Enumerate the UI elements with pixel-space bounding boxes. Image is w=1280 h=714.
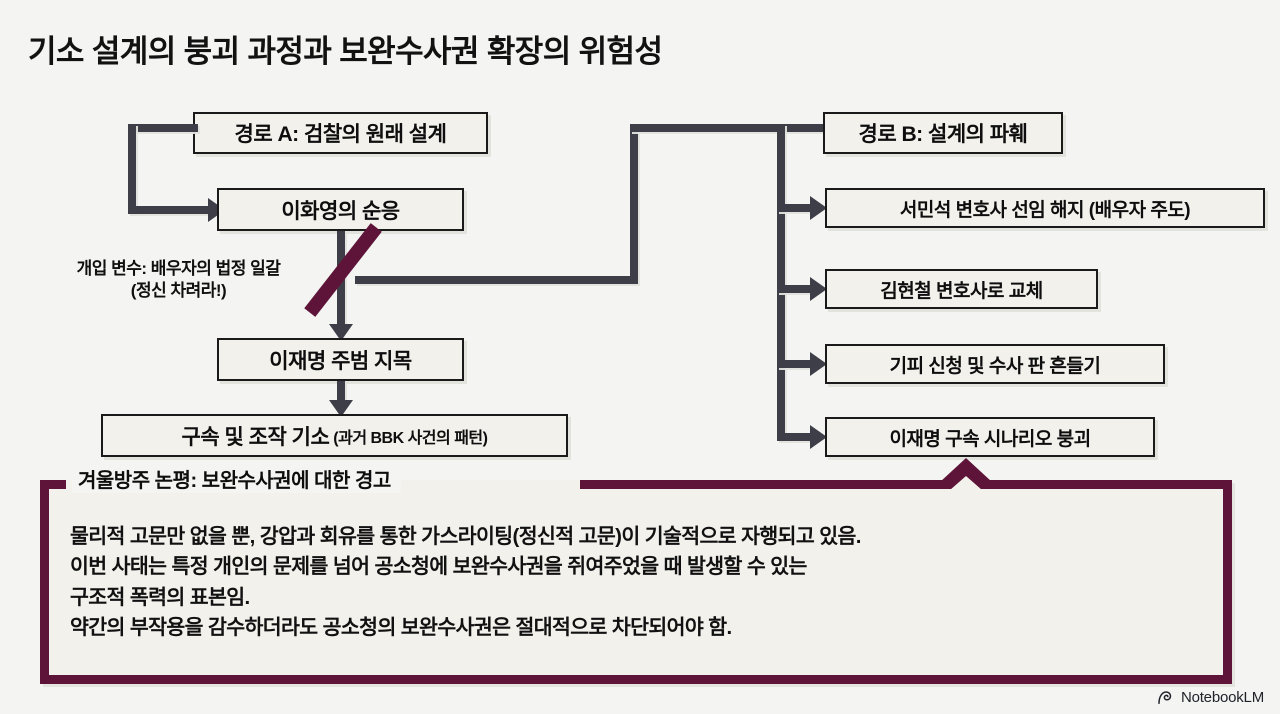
commentary-rail-left [40,480,49,684]
commentary-pointer-chevron-notch [950,476,982,490]
commentary-rail-right [1223,480,1232,684]
node-label: 김현철 변호사로 교체 [880,276,1042,303]
page-title: 기소 설계의 붕괴 과정과 보완수사권 확장의 위험성 [28,26,662,71]
node-label: 기피 신청 및 수사 판 흔들기 [890,351,1101,378]
notebooklm-label: NotebookLM [1181,689,1264,706]
notebooklm-watermark: NotebookLM [1157,689,1264,706]
node-counsel-replacement: 김현철 변호사로 교체 [825,269,1098,309]
bridge-top-run-to-path-b [630,124,825,132]
node-label: 서민석 변호사 선임 해지 (배우자 주도) [900,195,1190,222]
node-scenario-collapse: 이재명 구속 시나리오 붕괴 [825,417,1155,457]
node-label: 이재명 주범 지목 [269,345,411,375]
bridge-horizontal-to-path-b [355,276,638,284]
node-ringleader-designation: 이재명 주범 지목 [217,338,464,381]
commentary-panel: 겨울방주 논평: 보완수사권에 대한 경고 물리적 고문만 없을 뿐, 강압과 … [40,480,1232,684]
node-path-b-header: 경로 B: 설계의 파훼 [823,112,1063,154]
slide-canvas: 기소 설계의 붕괴 과정과 보완수사권 확장의 위험성 경로 A: 검찰의 원래… [0,0,1280,714]
node-label: 이재명 구속 시나리오 붕괴 [889,424,1090,451]
node-fabricated-indictment: 구속 및 조작 기소 (과거 BBK 사건의 패턴) [101,414,568,457]
node-counsel-dismissal: 서민석 변호사 선임 해지 (배우자 주도) [825,188,1265,228]
node-label: 구속 및 조작 기소 [182,421,330,451]
node-compliance: 이화영의 순응 [217,188,464,231]
node-label: 경로 B: 설계의 파훼 [859,118,1028,148]
annotation-line-2: (정신 차려라!) [46,280,311,302]
path-b-trunk [777,124,785,441]
node-path-a-header: 경로 A: 검찰의 원래 설계 [193,112,488,154]
intervening-variable-annotation: 개입 변수: 배우자의 법정 일갈 (정신 차려라!) [46,258,311,302]
commentary-line: 약간의 부작용을 감수하더라도 공소청의 보완수사권은 절대적으로 차단되어야 … [70,613,1206,643]
connector-a-down-segment [128,124,136,214]
node-recusal-motion: 기피 신청 및 수사 판 흔들기 [825,344,1165,384]
notebooklm-spiral-icon [1157,690,1174,705]
annotation-line-1: 개입 변수: 배우자의 법정 일갈 [46,258,311,280]
commentary-line: 이번 사태는 특정 개인의 문제를 넘어 공소청에 보완수사권을 쥐여주었을 때… [70,552,1206,582]
commentary-body: 물리적 고문만 없을 뿐, 강압과 회유를 통한 가스라이팅(정신적 고문)이 … [70,522,1206,643]
connector-a-top-segment [128,124,198,132]
commentary-rail-top-run [580,480,1232,489]
node-label: 경로 A: 검찰의 원래 설계 [235,118,447,148]
bridge-riser-to-path-b [630,124,638,284]
node-label: 이화영의 순응 [281,195,399,225]
commentary-line: 구조적 폭력의 표본임. [70,583,1206,613]
node-label-parenthetical: (과거 BBK 사건의 패턴) [333,424,487,448]
commentary-line: 물리적 고문만 없을 뿐, 강압과 회유를 통한 가스라이팅(정신적 고문)이 … [70,522,1206,552]
commentary-title: 겨울방주 논평: 보완수사권에 대한 경고 [72,464,401,493]
connector-a-into-compliance [128,206,213,214]
commentary-rail-top-stub [40,480,66,489]
commentary-rail-bottom [40,675,1232,684]
